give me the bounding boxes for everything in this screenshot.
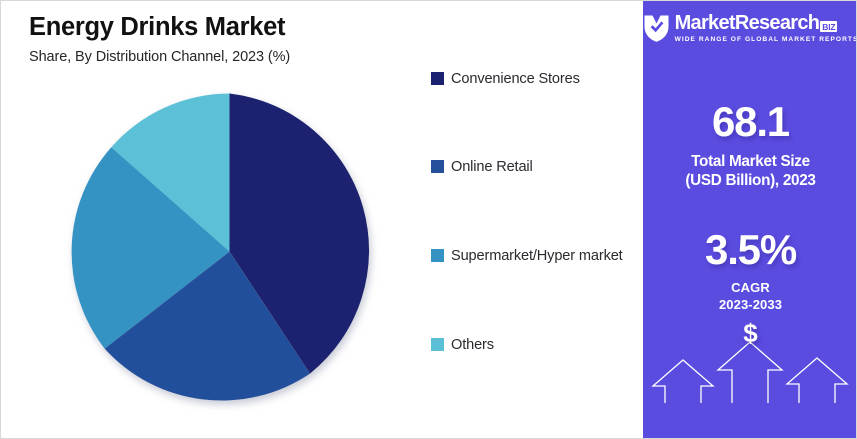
cagr-label: CAGR 2023-2033 [643, 280, 857, 314]
brand-name: MarketResearch [675, 13, 820, 33]
pie-chart [63, 85, 396, 418]
pie-slice-group [72, 94, 369, 401]
cagr-label-line2: 2023-2033 [643, 297, 857, 314]
cagr-value: 3.5% [643, 229, 857, 271]
legend-item-label: Others [451, 335, 494, 356]
legend-swatch-icon [431, 160, 444, 173]
pie-chart-svg [63, 85, 396, 418]
page-subtitle: Share, By Distribution Channel, 2023 (%) [29, 49, 609, 65]
arrow-center-icon [718, 342, 782, 403]
market-size-stat: 68.1 Total Market Size (USD Billion), 20… [643, 101, 857, 190]
arrow-left-icon [653, 360, 713, 403]
legend-item-label: Online Retail [451, 157, 533, 178]
brand-logo[interactable]: MarketResearch BIZ WIDE RANGE OF GLOBAL … [643, 13, 857, 43]
legend-swatch-icon [431, 338, 444, 351]
legend-item-others[interactable]: Others [431, 335, 631, 356]
legend-item-supermarket-hypermarket[interactable]: Supermarket/Hyper market [431, 246, 631, 267]
legend-item-label: Supermarket/Hyper market [451, 246, 623, 267]
cagr-label-line1: CAGR [643, 280, 857, 297]
legend-item-convenience-stores[interactable]: Convenience Stores [431, 69, 631, 90]
market-size-label-line2: (USD Billion), 2023 [643, 171, 857, 190]
brand-tagline: WIDE RANGE OF GLOBAL MARKET REPORTS [675, 36, 857, 43]
legend-swatch-icon [431, 72, 444, 85]
market-size-value: 68.1 [643, 101, 857, 143]
chart-panel: Energy Drinks Market Share, By Distribut… [1, 1, 643, 438]
page-title: Energy Drinks Market [29, 13, 609, 42]
legend-item-online-retail[interactable]: Online Retail [431, 157, 631, 178]
legend-swatch-icon [431, 249, 444, 262]
chart-header: Energy Drinks Market Share, By Distribut… [29, 13, 609, 65]
arrow-right-icon [787, 358, 847, 403]
stats-panel: MarketResearch BIZ WIDE RANGE OF GLOBAL … [643, 1, 857, 438]
market-size-label: Total Market Size (USD Billion), 2023 [643, 152, 857, 190]
dollar-sign-label: $ [643, 320, 857, 346]
market-size-label-line1: Total Market Size [643, 152, 857, 171]
growth-arrows-graphic: $ [643, 318, 857, 438]
market-infographic: Energy Drinks Market Share, By Distribut… [0, 0, 857, 439]
legend-item-label: Convenience Stores [451, 69, 580, 90]
brand-text: MarketResearch BIZ WIDE RANGE OF GLOBAL … [675, 13, 857, 43]
brand-tld-badge: BIZ [820, 21, 837, 33]
shield-check-icon [643, 14, 670, 43]
cagr-stat: 3.5% CAGR 2023-2033 [643, 229, 857, 314]
